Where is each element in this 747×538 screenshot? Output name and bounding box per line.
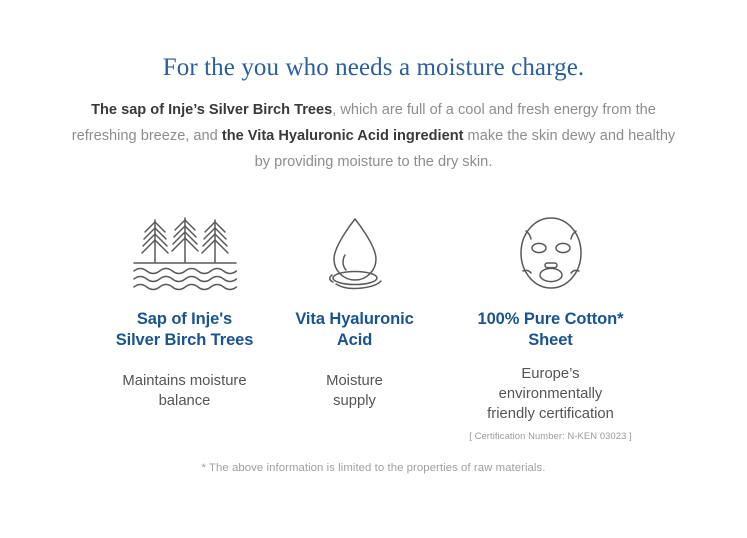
feature-title-birch-line2: Silver Birch Trees xyxy=(116,330,254,351)
intro-paragraph: The sap of Inje’s Silver Birch Trees, wh… xyxy=(63,97,684,175)
feature-desc-birch-line1: Maintains moisture xyxy=(122,371,246,391)
feature-title-hyaluronic-line2: Acid xyxy=(295,330,413,351)
intro-bold-segment-2: the Vita Hyaluronic Acid ingredient xyxy=(222,128,464,144)
face-sheet-mask-icon xyxy=(513,215,589,293)
feature-title-hyaluronic: Vita Hyaluronic Acid xyxy=(295,309,413,351)
feature-desc-cotton-line2: environmentally xyxy=(487,384,614,404)
feature-title-birch-line1: Sap of Inje's xyxy=(116,309,254,330)
feature-title-cotton-line2: Sheet xyxy=(478,330,624,351)
feature-title-cotton: 100% Pure Cotton* Sheet xyxy=(478,309,624,351)
intro-bold-segment-1: The sap of Inje’s Silver Birch Trees xyxy=(91,102,332,118)
feature-column-birch: Sap of Inje's Silver Birch Trees Maintai… xyxy=(97,215,273,411)
feature-desc-birch-line2: balance xyxy=(122,391,246,411)
feature-desc-cotton-line3: friendly certification xyxy=(487,404,614,424)
feature-desc-hyaluronic: Moisture supply xyxy=(326,371,383,411)
feature-columns: Sap of Inje's Silver Birch Trees Maintai… xyxy=(0,215,747,442)
product-info-page: For the you who needs a moisture charge.… xyxy=(0,0,747,538)
feature-column-hyaluronic: Vita Hyaluronic Acid Moisture supply xyxy=(267,215,443,411)
page-footnote: * The above information is limited to th… xyxy=(0,462,747,474)
feature-desc-hyaluronic-line1: Moisture xyxy=(326,371,383,391)
feature-title-hyaluronic-line1: Vita Hyaluronic xyxy=(295,309,413,330)
certification-number-note: [ Certification Number: N-KEN 03023 ] xyxy=(469,430,632,442)
feature-column-cotton: 100% Pure Cotton* Sheet Europe’s environ… xyxy=(451,215,651,442)
feature-desc-birch: Maintains moisture balance xyxy=(122,371,246,411)
page-headline: For the you who needs a moisture charge. xyxy=(0,53,747,83)
water-droplet-icon xyxy=(315,215,395,293)
feature-desc-cotton-line1: Europe’s xyxy=(487,364,614,384)
feature-desc-cotton: Europe’s environmentally friendly certif… xyxy=(487,364,614,424)
feature-title-cotton-line1: 100% Pure Cotton* xyxy=(478,309,624,330)
feature-title-birch: Sap of Inje's Silver Birch Trees xyxy=(116,309,254,351)
feature-desc-hyaluronic-line2: supply xyxy=(326,391,383,411)
pine-trees-water-icon xyxy=(131,215,239,293)
